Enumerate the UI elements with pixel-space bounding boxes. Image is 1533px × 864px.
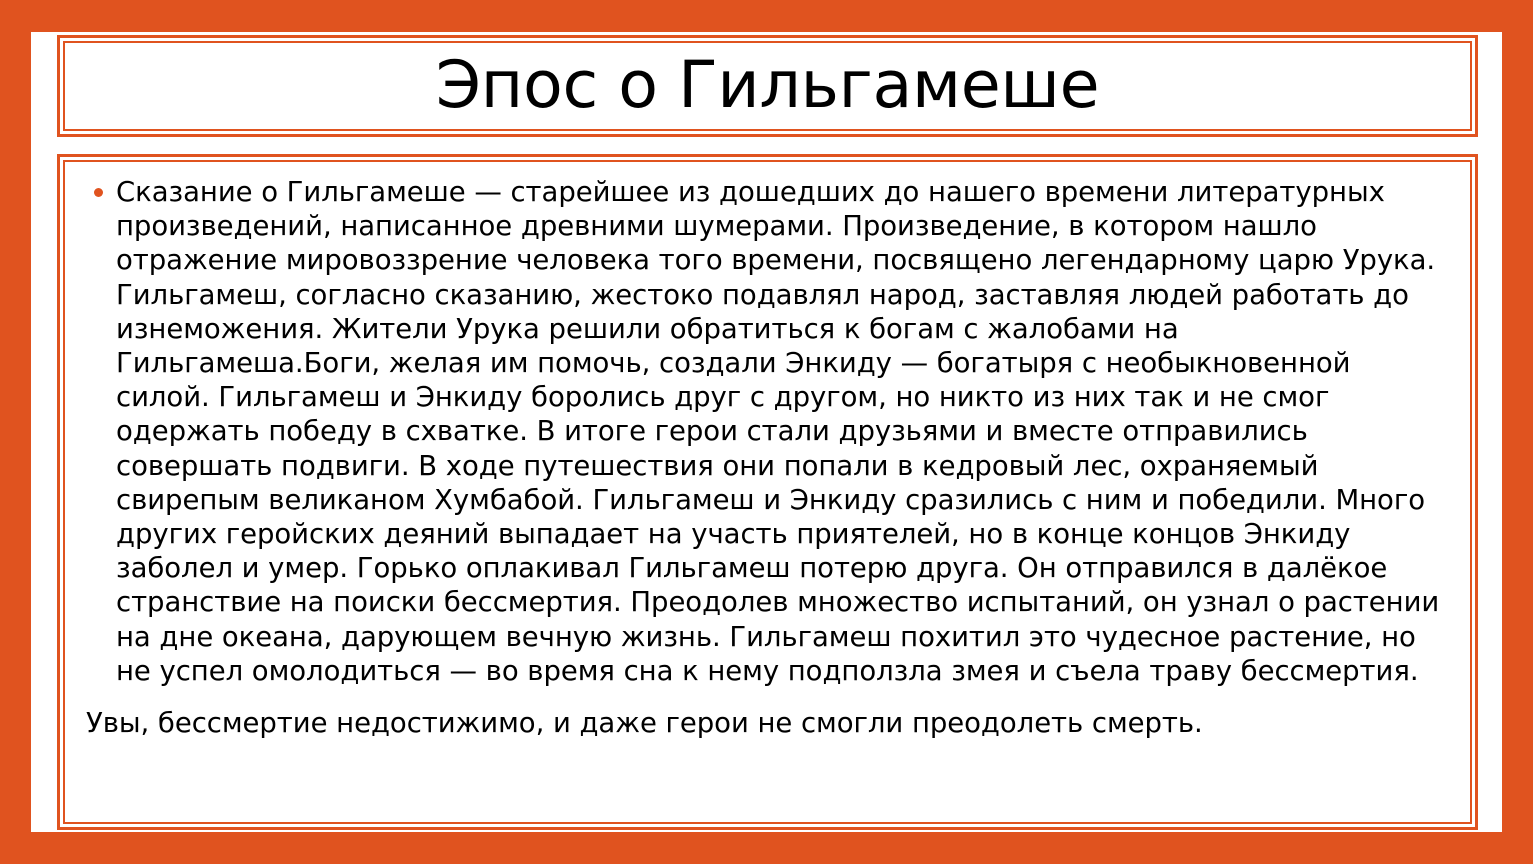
title-placeholder[interactable]: Эпос о Гильгамеше — [57, 35, 1478, 137]
closing-paragraph: Увы, бессмертие недостижимо, и даже геро… — [82, 706, 1441, 740]
slide: Эпос о Гильгамеше Сказание о Гильгамеше … — [0, 0, 1533, 864]
list-item: Сказание о Гильгамеше — старейшее из дош… — [82, 175, 1441, 688]
content-placeholder[interactable]: Сказание о Гильгамеше — старейшее из дош… — [57, 154, 1478, 830]
body-bullet-list: Сказание о Гильгамеше — старейшее из дош… — [82, 175, 1441, 688]
list-item-text: Сказание о Гильгамеше — старейшее из дош… — [116, 176, 1439, 687]
slide-canvas: Эпос о Гильгамеше Сказание о Гильгамеше … — [31, 32, 1502, 832]
bullet-dot-icon — [94, 188, 103, 197]
page-title: Эпос о Гильгамеше — [436, 52, 1100, 120]
